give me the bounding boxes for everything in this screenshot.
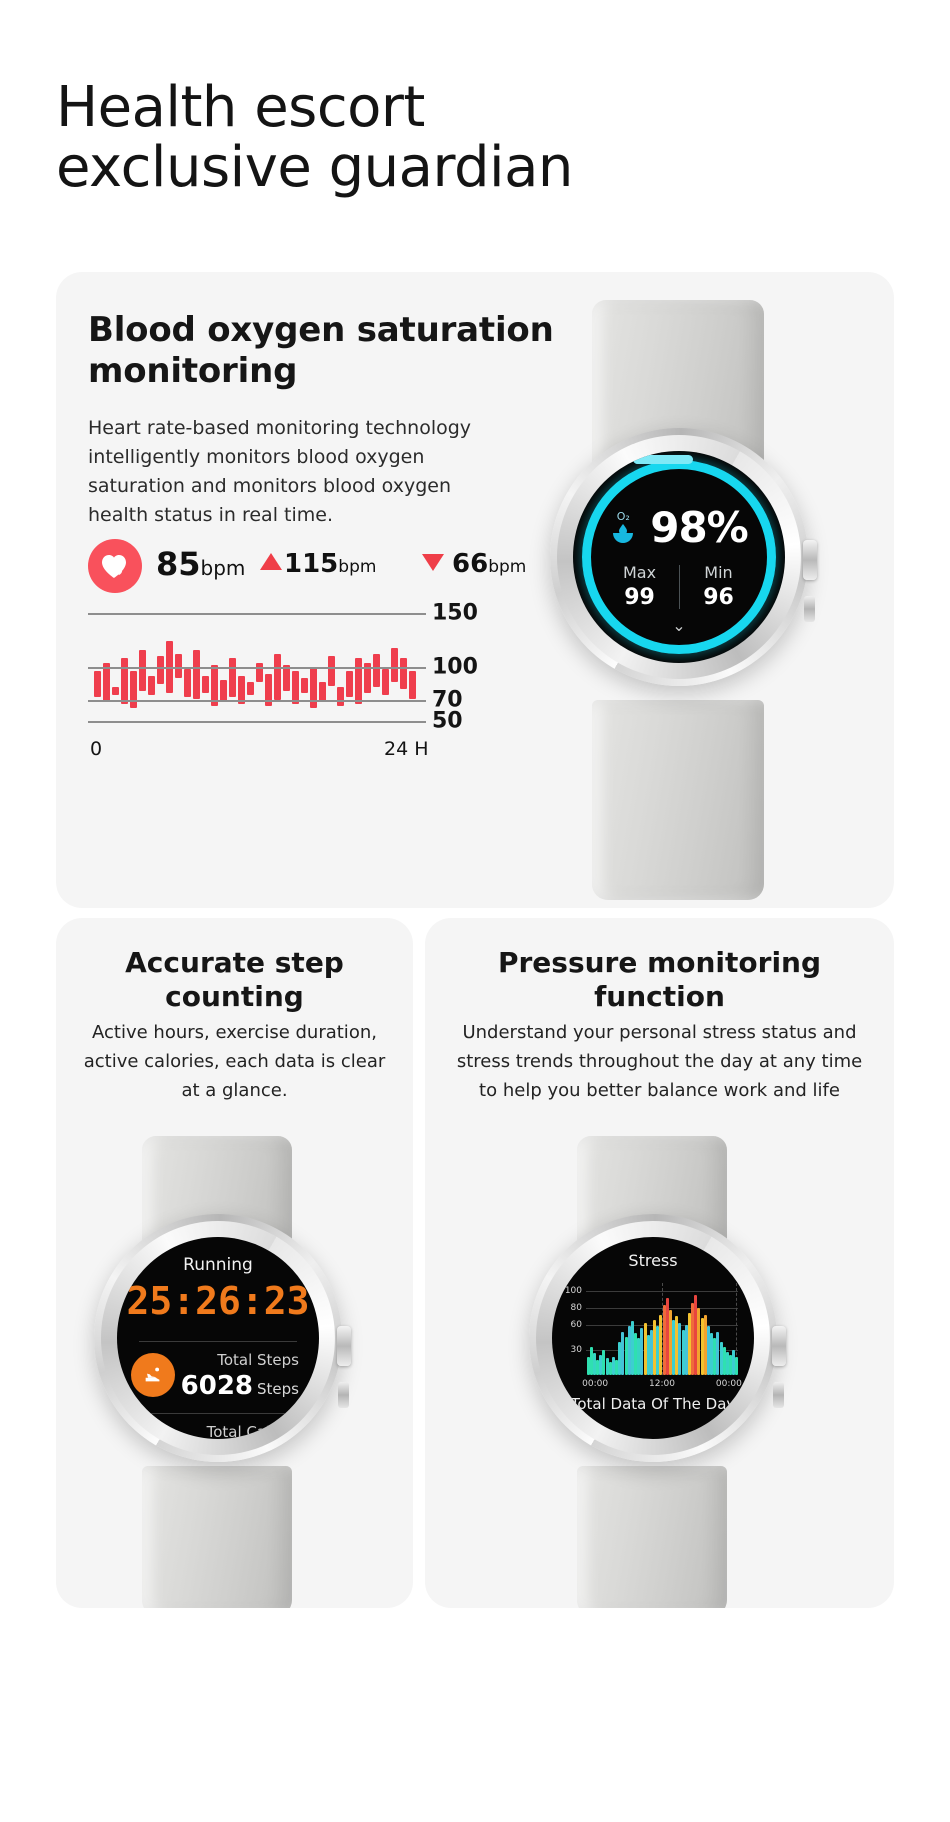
stress-bar [697, 1308, 700, 1375]
heart-rate-bar [310, 667, 317, 708]
heart-rate-bar [373, 654, 380, 687]
current-heart-rate-value: 85 [156, 545, 201, 583]
divider [139, 1413, 297, 1414]
total-calorie-row: Total Calorie 328 [117, 1413, 319, 1439]
max-heart-rate: 115bpm [260, 549, 376, 579]
total-calorie-label: Total Calorie [207, 1423, 299, 1439]
running-shoe-icon [131, 1353, 175, 1397]
step-counting-card: Accurate step counting Active hours, exe… [56, 918, 413, 1608]
blood-oxygen-card: Blood oxygen saturation monitoring Heart… [56, 272, 894, 908]
oxygen-min: Min 96 [680, 563, 758, 610]
watch-side-button[interactable] [338, 1382, 349, 1408]
total-steps-row: Total Steps 6028Steps [117, 1341, 319, 1403]
watch-case: Stress 100806030 00:0012:0000:00 Total D… [529, 1214, 777, 1462]
stress-bar [621, 1332, 624, 1375]
heart-rate-bar [400, 658, 407, 688]
watch-bezel: Stress 100806030 00:0012:0000:00 Total D… [536, 1221, 770, 1455]
stress-y-tick: 30 [571, 1345, 582, 1355]
heart-rate-bar [229, 658, 236, 697]
watch-side-button[interactable] [773, 1382, 784, 1408]
max-heart-rate-unit: bpm [338, 557, 376, 577]
heart-rate-bar [94, 671, 101, 697]
watch-crown[interactable] [337, 1326, 351, 1366]
heart-rate-bar [130, 671, 137, 708]
heart-rate-y-tick: 50 [432, 709, 463, 734]
heart-rate-bar [112, 687, 119, 696]
watch-side-button[interactable] [804, 596, 815, 622]
stress-y-tick: 60 [571, 1320, 582, 1330]
watch-case: O₂ 98% Max 99 [550, 428, 808, 686]
heart-rate-bar [157, 656, 164, 684]
stress-footer-label: Total Data Of The Day [552, 1395, 754, 1413]
oxygen-minmax: Max 99 Min 96 [573, 563, 785, 610]
heart-rate-bar [346, 671, 353, 697]
heart-rate-bar [337, 687, 344, 707]
heart-rate-bar [328, 656, 335, 686]
heart-rate-chart: 1501007050 0 24 H [88, 602, 488, 762]
watch-screen[interactable]: O₂ 98% Max 99 [573, 451, 785, 663]
step-counting-watch: Running 25:26:23 Total S [72, 1136, 398, 1608]
step-counting-description: Active hours, exercise duration, active … [78, 1018, 391, 1105]
blood-oxygen-title: Blood oxygen saturation monitoring [88, 310, 558, 393]
gridline [88, 613, 426, 615]
max-heart-rate-value: 115 [284, 549, 338, 579]
gridline [88, 721, 426, 723]
heart-rate-bar [391, 648, 398, 683]
total-steps-number: 6028 [181, 1371, 253, 1401]
watch-strap-bottom [592, 700, 764, 900]
heart-rate-bar [382, 669, 389, 695]
blood-oxygen-description: Heart rate-based monitoring technology i… [88, 414, 508, 530]
heart-rate-x-tick-end: 24 H [384, 738, 429, 760]
watch-bezel: Running 25:26:23 Total S [101, 1221, 335, 1455]
current-heart-rate: 85bpm [156, 545, 245, 583]
stress-chart-title: Stress [552, 1251, 754, 1270]
divider [139, 1341, 297, 1342]
oxygen-reading: O₂ 98% [573, 503, 785, 552]
heart-rate-bar [409, 671, 416, 699]
oxygen-max: Max 99 [601, 563, 679, 610]
oxygen-min-value: 96 [680, 585, 758, 610]
heart-rate-bar [202, 676, 209, 693]
watch-case: Running 25:26:23 Total S [94, 1214, 342, 1462]
watch-screen[interactable]: Running 25:26:23 Total S [117, 1237, 319, 1439]
total-steps-label: Total Steps [217, 1351, 299, 1369]
heart-rate-bar [184, 669, 191, 697]
pressure-monitoring-title: Pressure monitoring function [425, 946, 894, 1013]
heart-rate-bar [121, 658, 128, 704]
heart-rate-bar [274, 654, 281, 700]
heart-rate-bar [247, 682, 254, 695]
heart-rate-bar [148, 676, 155, 696]
stress-bar [602, 1350, 605, 1375]
heart-rate-bar [193, 650, 200, 700]
stress-bar [678, 1323, 681, 1375]
running-mode-label: Running [117, 1255, 319, 1275]
heart-rate-plot-area [88, 602, 426, 732]
heart-rate-summary: 85bpm 115bpm 66bpm [88, 539, 488, 591]
watch-strap-bottom [577, 1466, 727, 1608]
blood-oxygen-watch: O₂ 98% Max 99 [526, 300, 866, 880]
oxygen-min-label: Min [680, 563, 758, 582]
heart-rate-bar [139, 650, 146, 691]
heart-rate-y-tick: 100 [432, 655, 478, 680]
total-steps-value: 6028Steps [181, 1371, 299, 1401]
heart-rate-y-tick: 150 [432, 600, 478, 625]
stress-x-tick: 00:00 [582, 1379, 608, 1389]
page-title-line-1: Health escort [56, 75, 425, 140]
chevron-down-icon[interactable]: ⌄ [573, 616, 785, 635]
blood-drop-icon: O₂ [610, 511, 636, 544]
stress-bar [716, 1332, 719, 1375]
stress-bar [659, 1315, 662, 1375]
stress-bar [640, 1328, 643, 1375]
heart-rate-x-tick-start: 0 [90, 738, 102, 760]
gridline [88, 667, 426, 669]
pressure-monitoring-card: Pressure monitoring function Understand … [425, 918, 894, 1608]
oxygen-percent: 98% [650, 503, 748, 552]
oxygen-max-label: Max [601, 563, 679, 582]
heart-rate-bar [301, 678, 308, 693]
page-title: Health escort exclusive guardian [56, 78, 856, 199]
min-heart-rate-value: 66 [452, 549, 488, 579]
watch-crown[interactable] [772, 1326, 786, 1366]
watch-bezel: O₂ 98% Max 99 [557, 435, 801, 679]
stress-x-tick: 00:00 [716, 1379, 742, 1389]
watch-screen[interactable]: Stress 100806030 00:0012:0000:00 Total D… [552, 1237, 754, 1439]
running-timer: 25:26:23 [117, 1279, 319, 1323]
triangle-up-icon [260, 553, 282, 570]
heart-icon [88, 539, 142, 593]
stress-y-tick: 100 [565, 1286, 582, 1296]
o2-label: O₂ [617, 511, 630, 522]
current-heart-rate-unit: bpm [201, 556, 246, 580]
total-steps-unit: Steps [257, 1380, 299, 1398]
stress-x-tick: 12:00 [649, 1379, 675, 1389]
min-heart-rate-unit: bpm [488, 557, 526, 577]
heart-rate-bar [220, 680, 227, 702]
watch-strap-bottom [142, 1466, 292, 1608]
min-heart-rate: 66bpm [418, 549, 526, 579]
pressure-monitoring-watch: Stress 100806030 00:0012:0000:00 Total D… [507, 1136, 833, 1608]
heart-rate-bar [256, 663, 263, 683]
stress-bar [735, 1357, 738, 1375]
pressure-monitoring-description: Understand your personal stress status a… [447, 1018, 872, 1105]
triangle-down-icon [422, 554, 444, 571]
gridline [88, 700, 426, 702]
flame-icon [131, 1425, 175, 1439]
stress-y-tick: 80 [571, 1303, 582, 1313]
watch-crown[interactable] [803, 540, 817, 580]
heart-rate-bar [355, 658, 362, 704]
heart-rate-bar [175, 654, 182, 678]
oxygen-max-value: 99 [601, 585, 679, 610]
step-counting-title: Accurate step counting [56, 946, 413, 1013]
page-title-line-2: exclusive guardian [56, 138, 856, 198]
stress-plot-area: 100806030 [586, 1283, 738, 1375]
